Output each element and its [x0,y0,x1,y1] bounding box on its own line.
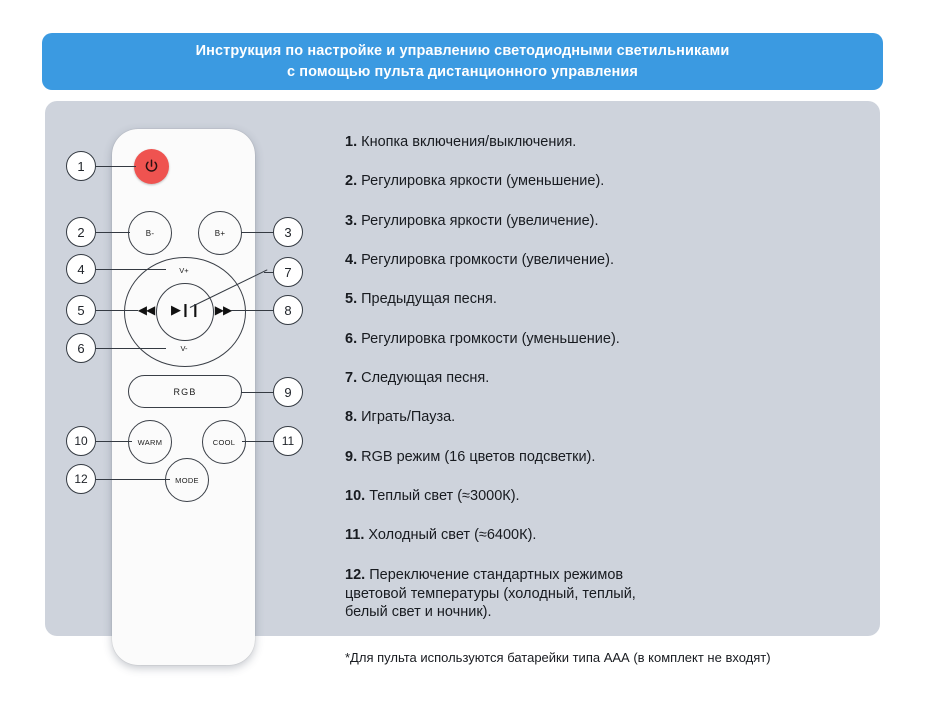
instruction-item: 5. Предыдущая песня. [345,290,765,309]
callout-12-label: 12 [74,472,87,486]
page-title: Инструкция по настройке и управлению све… [196,41,730,82]
instruction-item: 3. Регулировка яркости (увеличение). [345,212,765,231]
cool-label: COOL [213,438,235,447]
callout-6-label: 6 [77,341,84,356]
instruction-item: 6. Регулировка громкости (уменьшение). [345,330,765,349]
instruction-list: 1. Кнопка включения/выключения. 2. Регул… [345,133,765,622]
mode-label: MODE [175,476,199,485]
leader-line-11 [242,441,275,442]
instruction-number: 7. [345,370,357,386]
leader-line-12 [96,479,170,480]
instruction-number: 2. [345,173,357,189]
leader-line-6 [96,348,166,349]
instruction-text: Переключение стандартных режимов цветово… [345,567,636,621]
instruction-number: 1. [345,134,357,150]
leader-line-9 [241,392,275,393]
rgb-button[interactable]: RGB [128,375,242,408]
callout-11[interactable]: 11 [273,426,303,456]
instruction-number: 10. [345,488,365,504]
brightness-up-label: B+ [215,229,226,238]
instruction-item: 1. Кнопка включения/выключения. [345,133,765,152]
instruction-text: Регулировка громкости (увеличение). [361,252,614,268]
callout-8[interactable]: 8 [273,295,303,325]
callout-1[interactable]: 1 [66,151,96,181]
leader-line-2 [96,232,130,233]
instruction-text: Теплый свет (≈3000К). [369,488,519,504]
instruction-item: 2. Регулировка яркости (уменьшение). [345,172,765,191]
brightness-up-button[interactable]: B+ [198,211,242,255]
instruction-item: 8. Играть/Пауза. [345,408,765,427]
callout-1-label: 1 [77,159,84,174]
instruction-text: RGB режим (16 цветов подсветки). [361,449,595,465]
callout-7-label: 7 [284,265,291,280]
mode-button[interactable]: MODE [165,458,209,502]
instruction-text: Следующая песня. [361,370,489,386]
instruction-item: 4. Регулировка громкости (увеличение). [345,251,765,270]
callout-10-label: 10 [74,434,87,448]
instruction-number: 3. [345,213,357,229]
instruction-number: 8. [345,409,357,425]
brightness-down-label: B- [146,229,155,238]
instruction-text: Кнопка включения/выключения. [361,134,576,150]
leader-line-1 [96,166,136,167]
leader-line-3 [241,232,274,233]
leader-line-5 [96,310,138,311]
instruction-item: 9. RGB режим (16 цветов подсветки). [345,448,765,467]
callout-7[interactable]: 7 [273,257,303,287]
instruction-text: Холодный свет (≈6400К). [368,527,536,543]
instruction-number: 6. [345,331,357,347]
warm-button[interactable]: WARM [128,420,172,464]
brightness-down-button[interactable]: B- [128,211,172,255]
instruction-item: 7. Следующая песня. [345,369,765,388]
callout-3-label: 3 [284,225,291,240]
volume-down-label[interactable]: V- [164,344,204,353]
callout-3[interactable]: 3 [273,217,303,247]
power-button[interactable] [134,149,169,184]
callout-9-label: 9 [284,385,291,400]
callout-8-label: 8 [284,303,291,318]
callout-5[interactable]: 5 [66,295,96,325]
callout-9[interactable]: 9 [273,377,303,407]
callout-2[interactable]: 2 [66,217,96,247]
leader-line-10 [96,441,132,442]
power-icon [143,158,160,175]
instruction-item: 12. Переключение стандартных режимов цве… [345,566,765,623]
callout-5-label: 5 [77,303,84,318]
instruction-text: Регулировка яркости (увеличение). [361,213,598,229]
callout-2-label: 2 [77,225,84,240]
cool-button[interactable]: COOL [202,420,246,464]
instruction-number: 9. [345,449,357,465]
instruction-number: 4. [345,252,357,268]
header-banner: Инструкция по настройке и управлению све… [42,33,883,90]
instruction-text: Регулировка яркости (уменьшение). [361,173,604,189]
instruction-number: 5. [345,291,357,307]
callout-12[interactable]: 12 [66,464,96,494]
instruction-number: 12. [345,567,365,583]
instruction-text: Регулировка громкости (уменьшение). [361,331,620,347]
volume-up-label[interactable]: V+ [164,266,204,275]
callout-4[interactable]: 4 [66,254,96,284]
instruction-number: 11. [345,527,364,543]
instruction-text: Играть/Пауза. [361,409,455,425]
callout-10[interactable]: 10 [66,426,96,456]
leader-line-8 [231,310,275,311]
callout-4-label: 4 [77,262,84,277]
callout-11-label: 11 [282,434,294,448]
callout-6[interactable]: 6 [66,333,96,363]
instruction-item: 10. Теплый свет (≈3000К). [345,487,765,506]
instruction-item: 11. Холодный свет (≈6400К). [345,526,765,545]
rgb-label: RGB [173,387,196,397]
footnote: *Для пульта используются батарейки типа … [345,650,771,665]
leader-line-4 [96,269,166,270]
instruction-text: Предыдущая песня. [361,291,497,307]
warm-label: WARM [138,438,163,447]
